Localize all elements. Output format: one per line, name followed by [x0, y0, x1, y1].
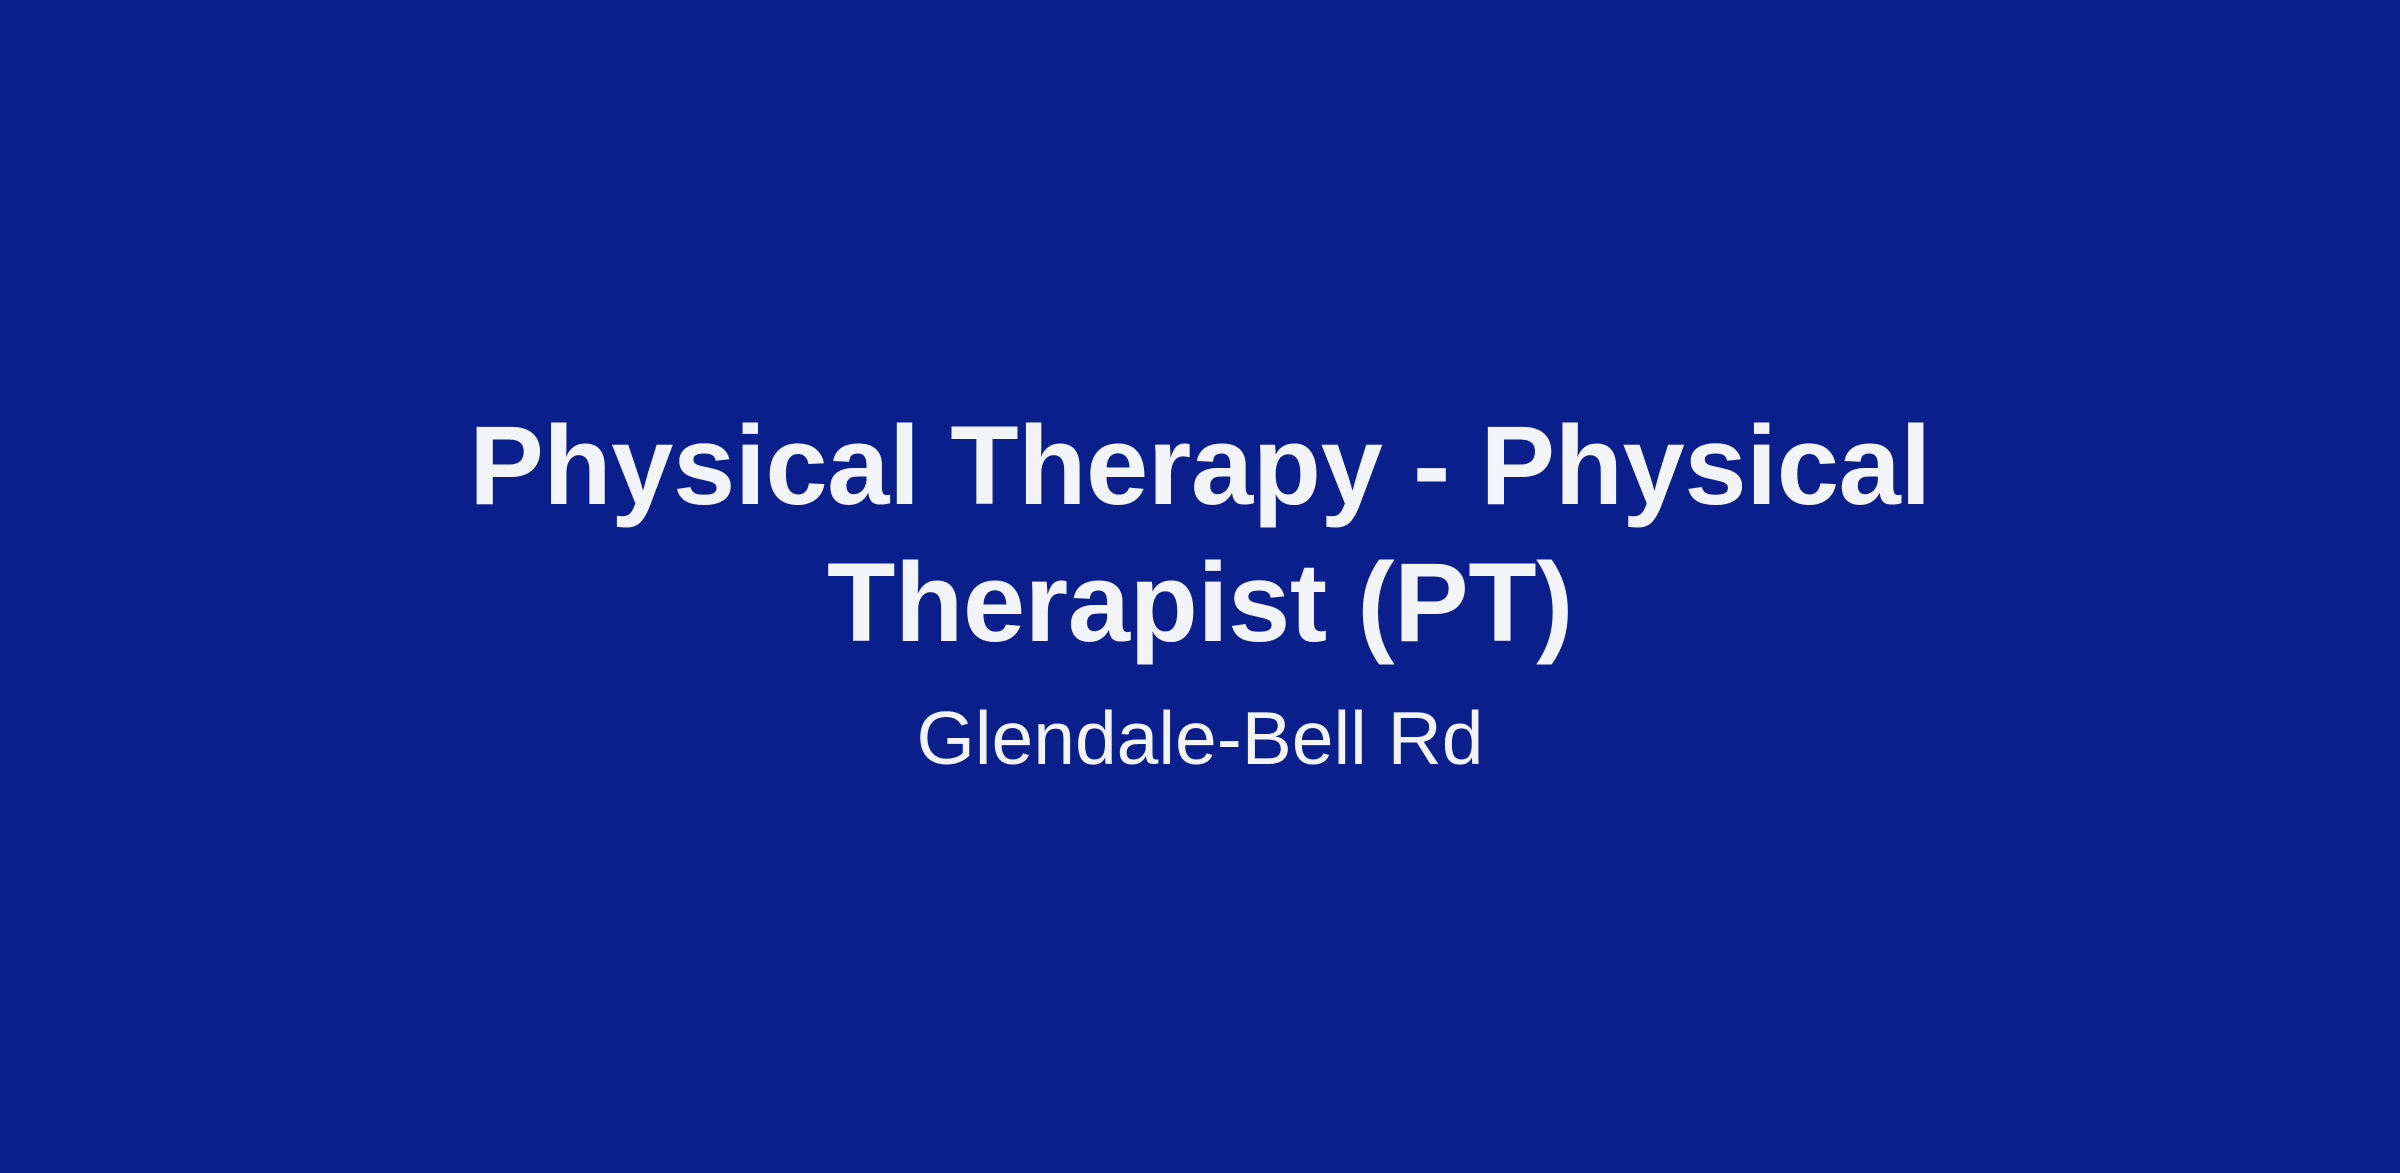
page-title: Physical Therapy - Physical Therapist (P… — [395, 398, 2005, 671]
page-subtitle: Glendale-Bell Rd — [917, 693, 1484, 783]
title-slide: Physical Therapy - Physical Therapist (P… — [0, 0, 2400, 1173]
title-block: Physical Therapy - Physical Therapist (P… — [390, 398, 2010, 783]
